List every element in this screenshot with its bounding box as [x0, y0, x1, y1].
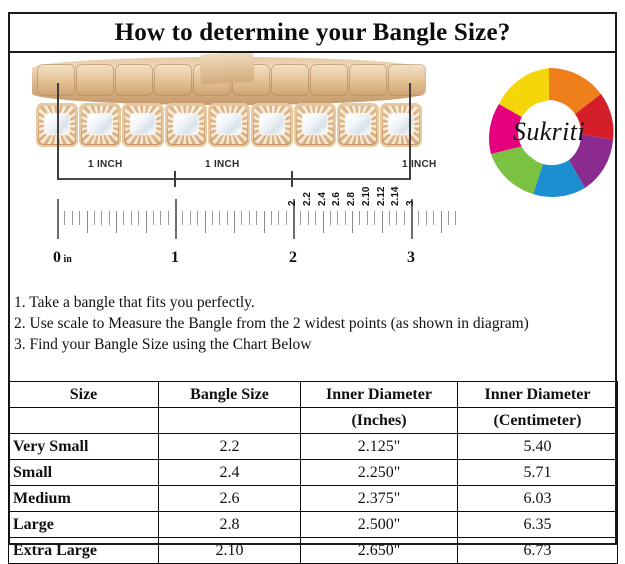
ruler-size-mark-2.4: 2.4 — [317, 192, 328, 206]
ruler-tick-minor — [227, 211, 228, 225]
ruler-tick-minor — [330, 211, 331, 225]
cell-inner-diameter-cm: 5.40 — [458, 434, 618, 460]
ruler-tick-minor — [374, 211, 375, 225]
ruler-tick-minor — [64, 211, 65, 225]
ruler-tick-minor — [278, 211, 279, 225]
ruler-tick-minor — [448, 211, 449, 225]
logo-wordmark: Sukriti — [475, 58, 615, 206]
ruler-size-mark-2.6: 2.6 — [331, 192, 342, 206]
ruler-tick-minor — [286, 211, 287, 225]
ruler-tick-minor — [404, 211, 405, 225]
page-title: How to determine your Bangle Size? — [115, 19, 511, 47]
cell-bangle-size: 2.6 — [159, 486, 301, 512]
ruler-tick-minor — [433, 211, 434, 225]
inch-ruler: 0 in123 22.22.42.62.82.102.122.143 — [10, 193, 615, 285]
ruler-label-0: 0 in — [53, 249, 72, 267]
ruler-tick-minor — [160, 211, 161, 225]
ruler-tick-quarter — [87, 211, 88, 233]
inch-label-2: 1 INCH — [205, 159, 240, 170]
cell-inner-diameter-inches: 2.500" — [301, 512, 458, 538]
ruler-tick-minor — [271, 211, 272, 225]
measurement-diagram: 1 INCH 1 INCH 1 INCH 0 in123 22.22.42.62… — [10, 53, 615, 285]
ruler-tick-minor — [101, 211, 102, 225]
ruler-tick-major — [57, 199, 59, 239]
table-row: Very Small2.22.125"5.40 — [9, 434, 618, 460]
ruler-tick-minor — [109, 211, 110, 225]
measure-tick-2 — [291, 171, 293, 187]
header-inner-diameter-inches: Inner Diameter — [301, 382, 458, 408]
ruler-tick-minor — [168, 211, 169, 225]
inch-label-3: 1 INCH — [402, 159, 437, 170]
ruler-tick-minor — [418, 211, 419, 225]
ruler-tick-minor — [337, 211, 338, 225]
inch-label-1: 1 INCH — [88, 159, 123, 170]
cell-inner-diameter-inches: 2.375" — [301, 486, 458, 512]
cell-inner-diameter-cm: 6.03 — [458, 486, 618, 512]
cell-size: Very Small — [9, 434, 159, 460]
ruler-tick-minor — [241, 211, 242, 225]
instructions-list: 1. Take a bangle that fits you perfectly… — [14, 292, 614, 355]
ruler-tick-major — [175, 199, 177, 239]
ruler-tick-half — [116, 211, 117, 233]
ruler-tick-minor — [389, 211, 390, 225]
ruler-tick-quarter — [205, 211, 206, 233]
cell-bangle-size: 2.4 — [159, 460, 301, 486]
ruler-size-mark-2.10: 2.10 — [361, 187, 372, 206]
cell-bangle-size: 2.2 — [159, 434, 301, 460]
ruler-tick-quarter — [146, 211, 147, 233]
cell-bangle-size: 2.8 — [159, 512, 301, 538]
ruler-tick-minor — [249, 211, 250, 225]
title-box: How to determine your Bangle Size? — [8, 12, 617, 53]
ruler-tick-minor — [94, 211, 95, 225]
ruler-tick-minor — [308, 211, 309, 225]
ruler-tick-minor — [219, 211, 220, 225]
ruler-tick-minor — [79, 211, 80, 225]
ruler-tick-minor — [315, 211, 316, 225]
ruler-tick-minor — [153, 211, 154, 225]
cell-inner-diameter-cm: 6.35 — [458, 512, 618, 538]
ruler-tick-minor — [300, 211, 301, 225]
cell-inner-diameter-inches: 2.125" — [301, 434, 458, 460]
cell-inner-diameter-inches: 2.250" — [301, 460, 458, 486]
ruler-size-mark-2.14: 2.14 — [390, 187, 401, 206]
ruler-label-3: 3 — [407, 249, 415, 267]
subheader-bangle-size — [159, 408, 301, 434]
cell-inner-diameter-cm: 6.73 — [458, 538, 618, 564]
header-bangle-size: Bangle Size — [159, 382, 301, 408]
table-row: Large2.82.500"6.35 — [9, 512, 618, 538]
table-row: Small2.42.250"5.71 — [9, 460, 618, 486]
ruler-tick-minor — [256, 211, 257, 225]
cell-size: Small — [9, 460, 159, 486]
ruler-tick-minor — [131, 211, 132, 225]
table-row: Medium2.62.375"6.03 — [9, 486, 618, 512]
instruction-2: 2. Use scale to Measure the Bangle from … — [14, 313, 614, 334]
ruler-tick-quarter — [382, 211, 383, 233]
ruler-tick-minor — [123, 211, 124, 225]
ruler-size-mark-3: 3 — [405, 200, 416, 206]
ruler-tick-quarter — [441, 211, 442, 233]
ruler-tick-minor — [182, 211, 183, 225]
ruler-tick-minor — [367, 211, 368, 225]
measure-tick-start — [57, 83, 59, 180]
ruler-tick-minor — [396, 211, 397, 225]
ruler-tick-minor — [197, 211, 198, 225]
ruler-tick-minor — [359, 211, 360, 225]
ruler-tick-minor — [345, 211, 346, 225]
sukriti-logo: Sukriti — [475, 58, 615, 206]
ruler-tick-half — [234, 211, 235, 233]
instruction-3: 3. Find your Bangle Size using the Chart… — [14, 334, 614, 355]
ruler-label-1: 1 — [171, 249, 179, 267]
ruler-unit-label: in — [61, 254, 72, 265]
table-header-row: Size Bangle Size Inner Diameter Inner Di… — [9, 382, 618, 408]
bangle-size-guide: How to determine your Bangle Size? 1 INC… — [0, 0, 625, 563]
ruler-tick-minor — [212, 211, 213, 225]
header-size: Size — [9, 382, 159, 408]
ruler-tick-minor — [138, 211, 139, 225]
ruler-tick-minor — [190, 211, 191, 225]
ruler-size-mark-2.2: 2.2 — [302, 192, 313, 206]
subheader-inches: (Inches) — [301, 408, 458, 434]
ruler-tick-quarter — [264, 211, 265, 233]
measure-tick-1 — [174, 171, 176, 187]
ruler-size-mark-2.8: 2.8 — [346, 192, 357, 206]
cell-size: Extra Large — [9, 538, 159, 564]
ruler-tick-quarter — [323, 211, 324, 233]
size-chart-table: Size Bangle Size Inner Diameter Inner Di… — [8, 381, 617, 564]
ruler-size-mark-2: 2 — [287, 200, 298, 206]
cell-inner-diameter-inches: 2.650" — [301, 538, 458, 564]
table-row: Extra Large2.102.650"6.73 — [9, 538, 618, 564]
cell-bangle-size: 2.10 — [159, 538, 301, 564]
table-subheader-row: (Inches) (Centimeter) — [9, 408, 618, 434]
cell-size: Large — [9, 512, 159, 538]
header-inner-diameter-cm: Inner Diameter — [458, 382, 618, 408]
cell-inner-diameter-cm: 5.71 — [458, 460, 618, 486]
ruler-size-mark-2.12: 2.12 — [376, 187, 387, 206]
table-body: Very Small2.22.125"5.40Small2.42.250"5.7… — [9, 434, 618, 564]
subheader-size — [9, 408, 159, 434]
ruler-tick-half — [352, 211, 353, 233]
cell-size: Medium — [9, 486, 159, 512]
ruler-tick-minor — [455, 211, 456, 225]
subheader-centimeter: (Centimeter) — [458, 408, 618, 434]
measure-line — [57, 178, 409, 180]
instruction-1: 1. Take a bangle that fits you perfectly… — [14, 292, 614, 313]
ruler-tick-minor — [426, 211, 427, 225]
ruler-label-2: 2 — [289, 249, 297, 267]
ruler-tick-minor — [72, 211, 73, 225]
